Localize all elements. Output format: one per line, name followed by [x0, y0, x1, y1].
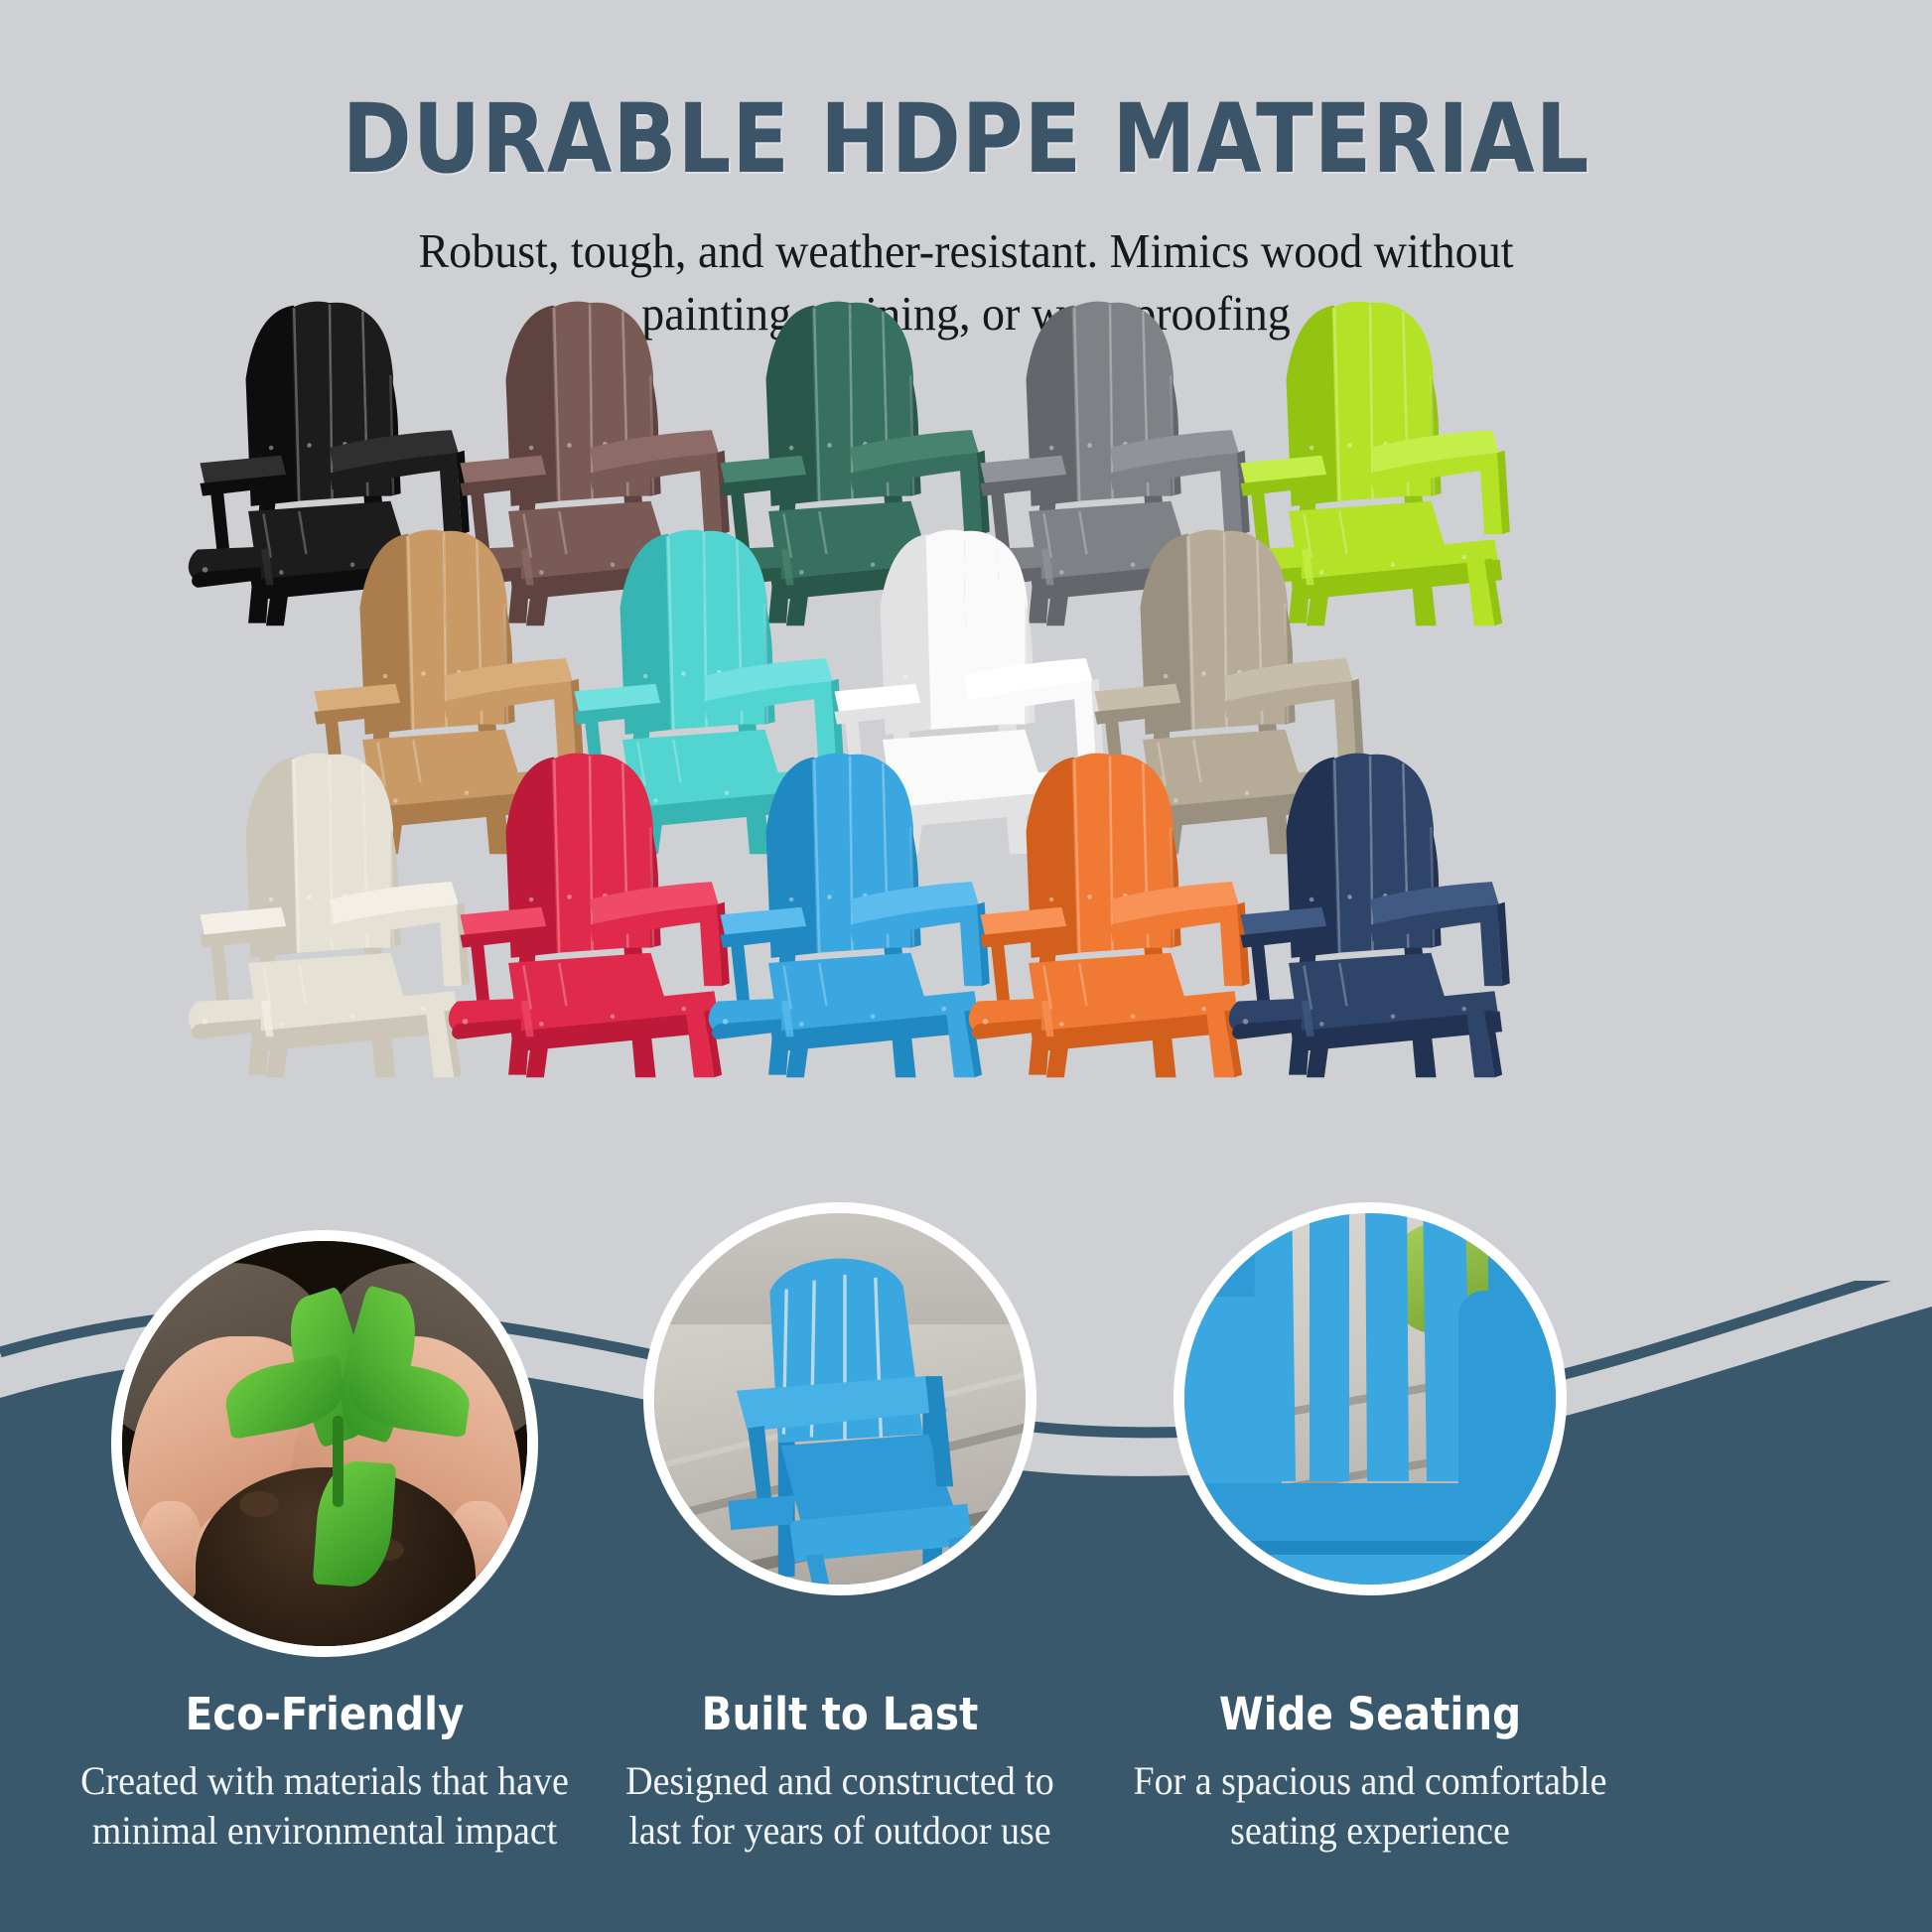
feature-desc-built-to-last: Designed and constructed to last for yea…	[576, 1756, 1104, 1857]
feature-image-built-to-last	[643, 1202, 1036, 1595]
feature-desc-line-2: last for years of outdoor use	[628, 1808, 1050, 1853]
feature-image-eco-friendly	[111, 1230, 538, 1657]
feature-desc-line-1: Created with materials that have	[80, 1758, 569, 1803]
feature-desc-line-1: For a spacious and comfortable	[1134, 1758, 1607, 1803]
feature-desc-wide-seating: For a spacious and comfortable seating e…	[1106, 1756, 1634, 1857]
feature-image-wide-seating	[1173, 1202, 1567, 1595]
blue-chair-seat-closeup-photo	[1184, 1213, 1556, 1585]
feature-block-eco-friendly: Eco-Friendly Created with materials that…	[47, 1688, 603, 1857]
feature-desc-line-1: Designed and constructed to	[625, 1758, 1054, 1803]
feature-title-eco-friendly: Eco-Friendly	[74, 1688, 575, 1740]
feature-desc-line-2: seating experience	[1230, 1808, 1510, 1853]
feature-title-wide-seating: Wide Seating	[1120, 1688, 1620, 1740]
chair-color-swatch-grid	[0, 0, 1932, 1281]
chair-swatch-navy-blue[interactable]	[1179, 750, 1561, 1080]
blue-adirondack-chair-photo	[654, 1213, 1026, 1585]
feature-block-built-to-last: Built to Last Designed and constructed t…	[562, 1688, 1118, 1857]
feature-desc-eco-friendly: Created with materials that have minimal…	[61, 1756, 589, 1857]
chair-illustration-navy-blue	[1179, 750, 1561, 1080]
feature-title-built-to-last: Built to Last	[590, 1688, 1090, 1740]
seedling-in-hands-photo	[122, 1241, 527, 1646]
infographic-canvas: DURABLE HDPE MATERIAL Robust, tough, and…	[0, 0, 1932, 1932]
feature-block-wide-seating: Wide Seating For a spacious and comforta…	[1092, 1688, 1648, 1857]
feature-desc-line-2: minimal environmental impact	[92, 1808, 558, 1853]
